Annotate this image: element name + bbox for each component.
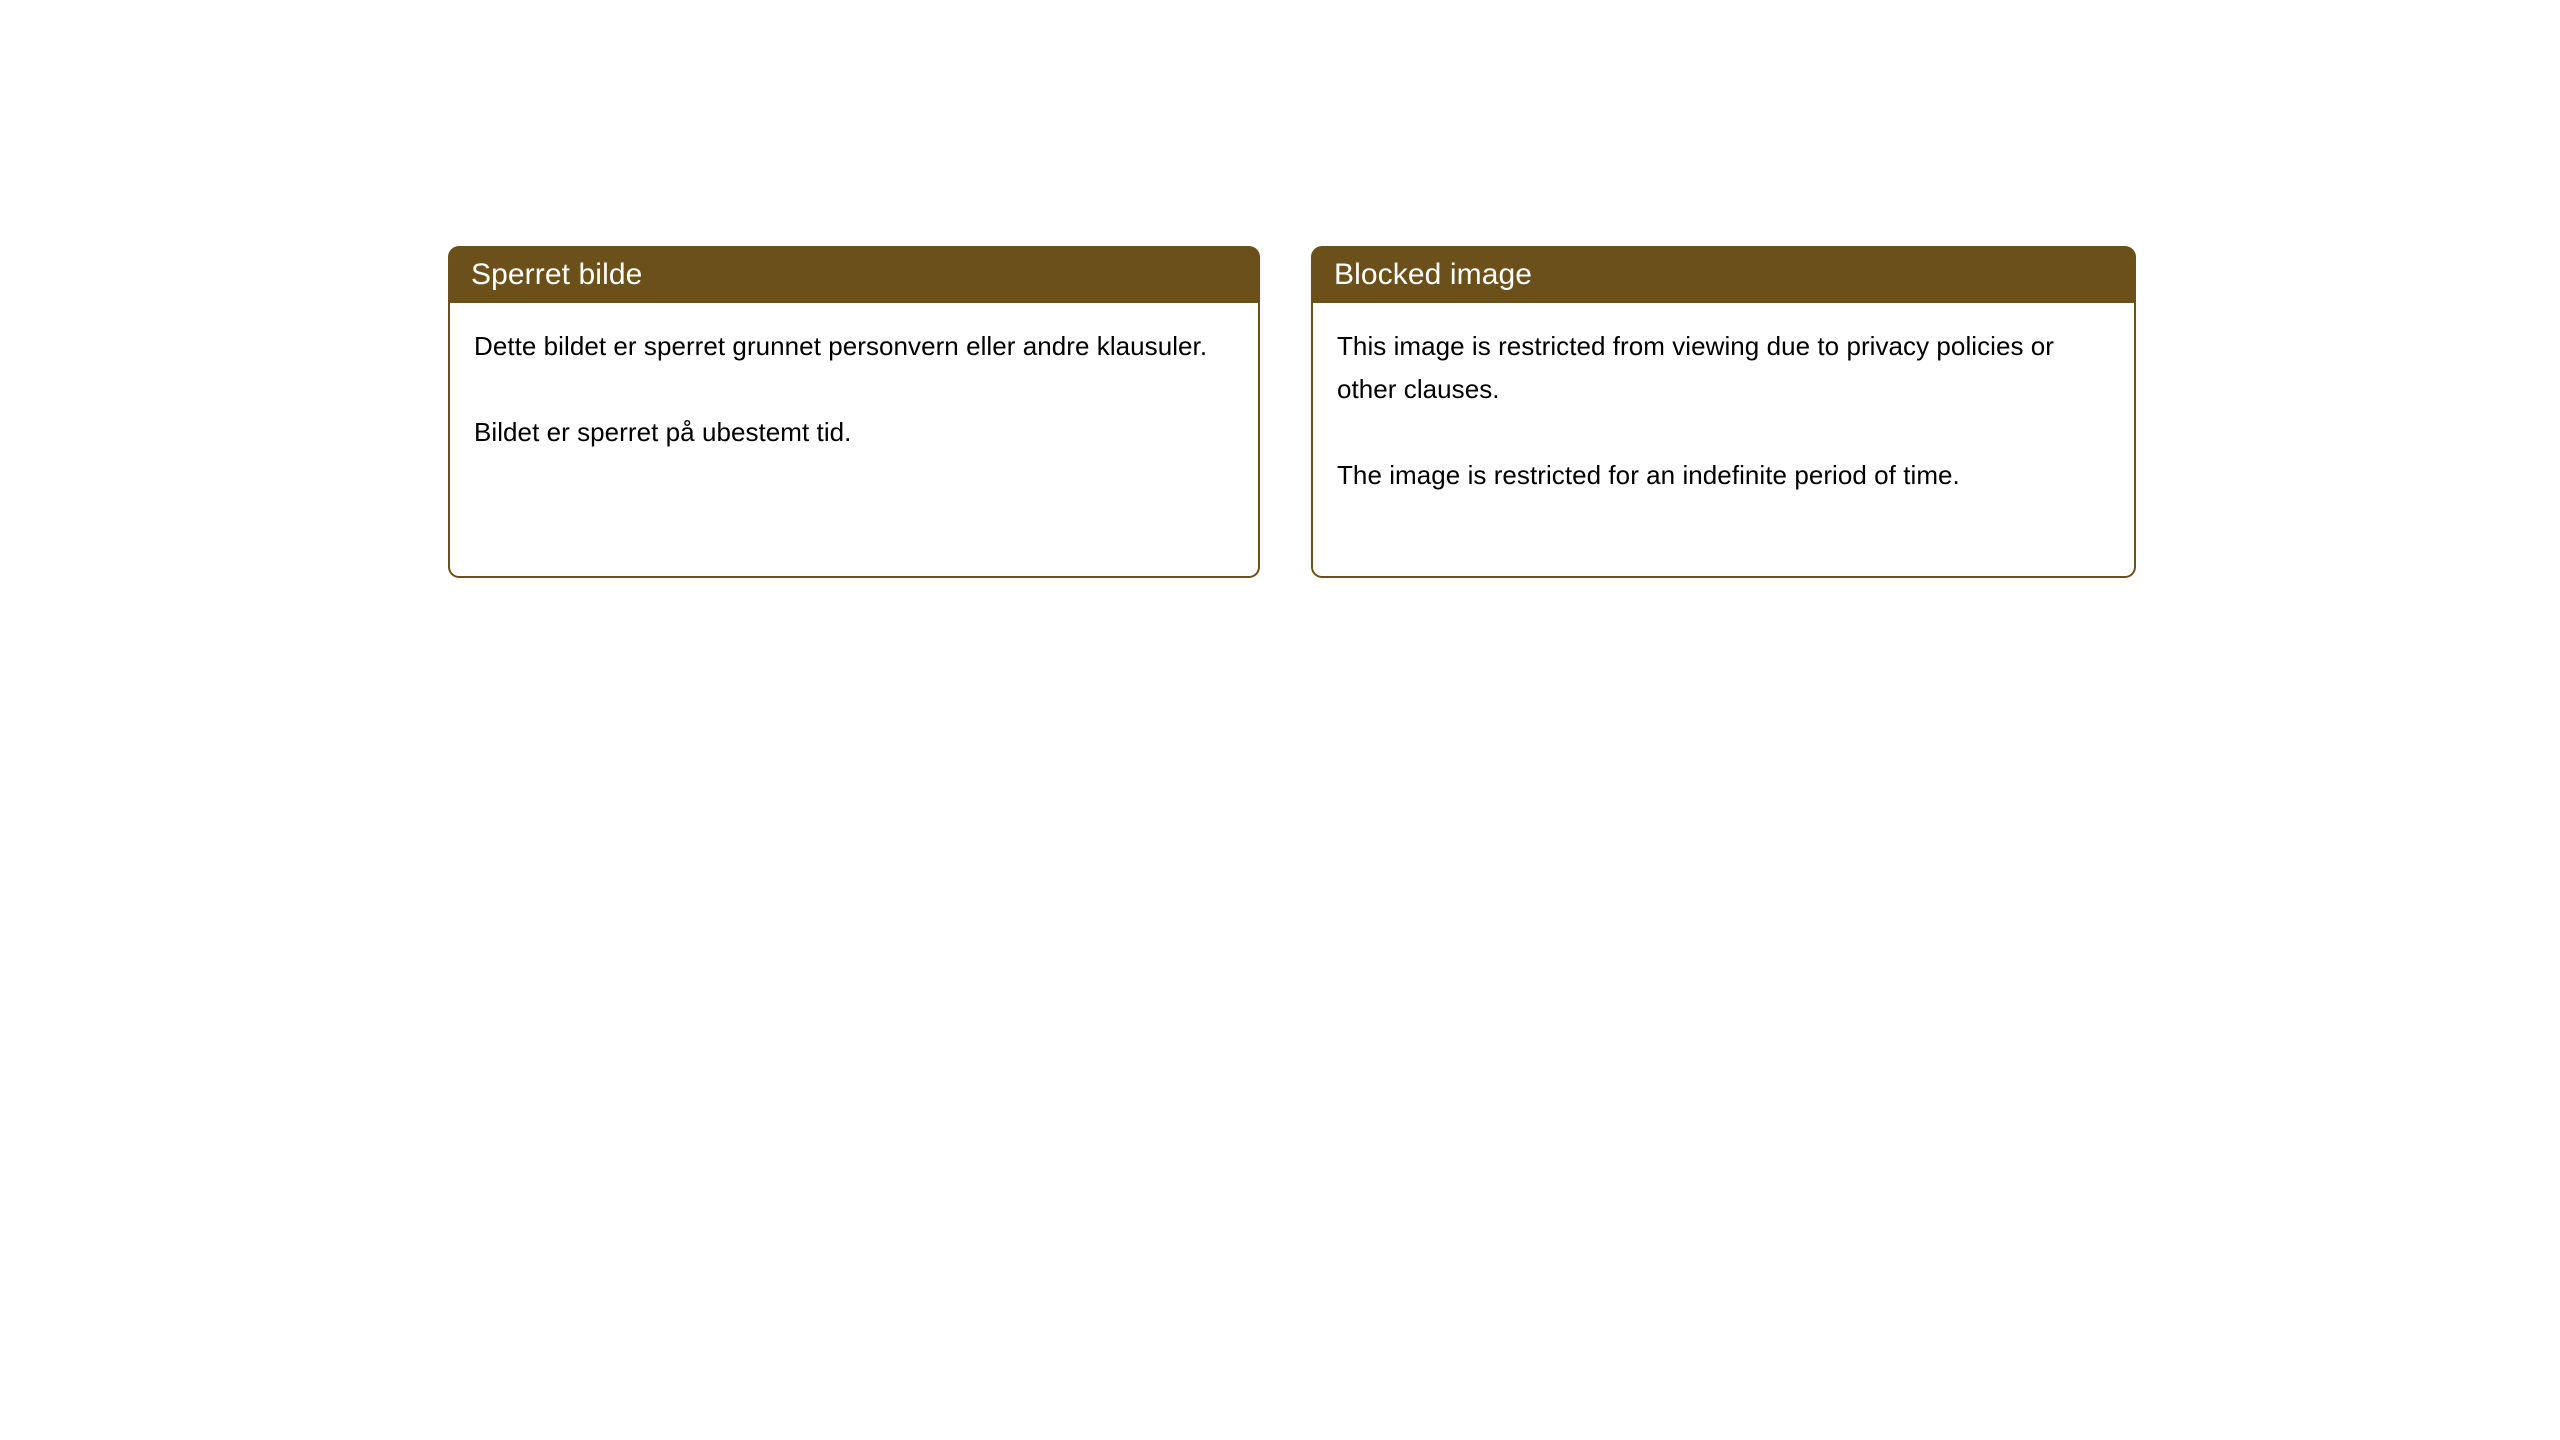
card-body-en: This image is restricted from viewing du… bbox=[1311, 303, 2136, 578]
blocked-image-notice-en: Blocked image This image is restricted f… bbox=[1311, 246, 2136, 578]
card-title-no: Sperret bilde bbox=[471, 258, 642, 292]
card-title-en: Blocked image bbox=[1334, 258, 1532, 292]
card-header-no: Sperret bilde bbox=[448, 246, 1260, 303]
card-paragraph-no-2: Bildet er sperret på ubestemt tid. bbox=[474, 411, 1234, 454]
blocked-image-notice-no: Sperret bilde Dette bildet er sperret gr… bbox=[448, 246, 1260, 578]
card-header-en: Blocked image bbox=[1311, 246, 2136, 303]
card-paragraph-en-1: This image is restricted from viewing du… bbox=[1337, 325, 2110, 411]
card-paragraph-en-2: The image is restricted for an indefinit… bbox=[1337, 454, 2110, 497]
paragraph-spacer-en bbox=[1337, 411, 2110, 454]
card-body-no: Dette bildet er sperret grunnet personve… bbox=[448, 303, 1260, 578]
card-paragraph-no-1: Dette bildet er sperret grunnet personve… bbox=[474, 325, 1234, 368]
page-canvas: Sperret bilde Dette bildet er sperret gr… bbox=[0, 0, 2560, 1440]
paragraph-spacer-no bbox=[474, 368, 1234, 411]
